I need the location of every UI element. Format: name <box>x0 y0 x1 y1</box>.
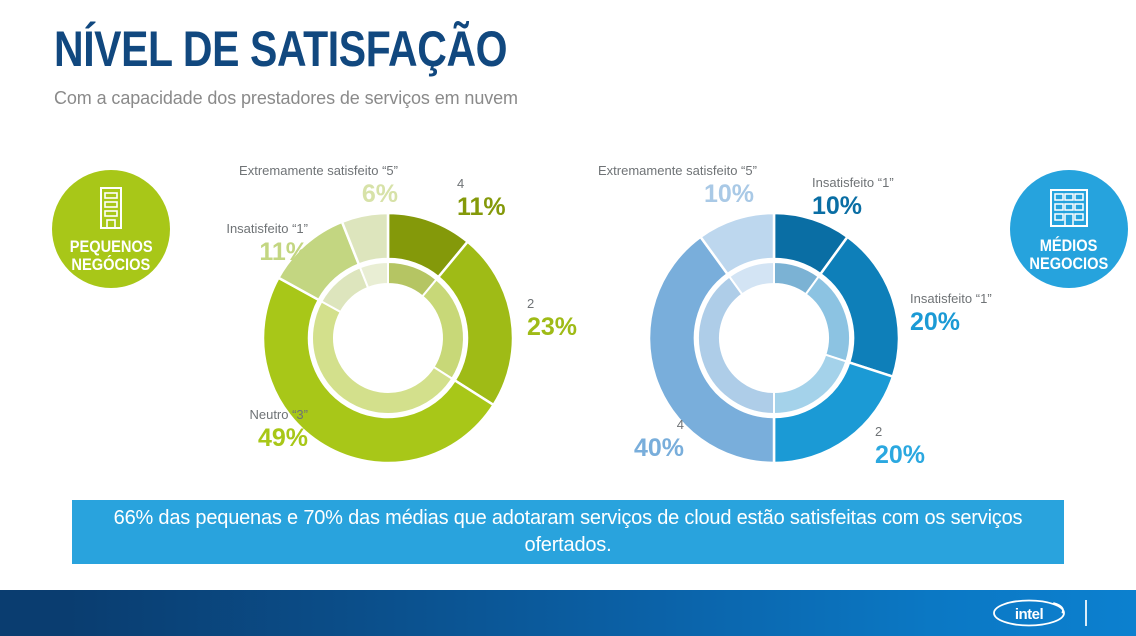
badge-medios-negocios: MÉDIOS NEGOCIOS <box>1010 170 1128 288</box>
callout-value: 49% <box>148 424 308 452</box>
callout-left-insatisfeito: Insatisfeito “1” 11% <box>118 222 308 266</box>
callout-left-extremamente-satisfeito: Extremamente satisfeito “5” 6% <box>198 164 398 208</box>
callout-value: 10% <box>598 180 754 208</box>
svg-text:intel: intel <box>1015 606 1044 623</box>
callout-left-neutro: Neutro “3” 49% <box>148 408 308 452</box>
page-subtitle: Com a capacidade dos prestadores de serv… <box>54 88 607 109</box>
callout-right-4: 4 40% <box>570 418 684 462</box>
medium-building-icon <box>1047 186 1091 235</box>
footer-divider <box>1085 600 1087 626</box>
summary-banner: 66% das pequenas e 70% das médias que ad… <box>72 500 1064 564</box>
callout-right-2: 2 20% <box>875 425 925 469</box>
callout-label: Extremamente satisfeito “5” <box>198 164 398 179</box>
callout-label: Insatisfeito “1” <box>812 176 894 191</box>
callout-right-insatisfeito-20: Insatisfeito “1” 20% <box>910 292 992 336</box>
page-title: NÍVEL DE SATISFAÇÃO <box>54 24 507 74</box>
footer-bar: intel <box>0 590 1136 636</box>
callout-label: Neutro “3” <box>148 408 308 423</box>
callout-label: 2 <box>875 425 925 440</box>
callout-value: 23% <box>527 313 577 341</box>
badge-right-line1: MÉDIOS <box>1040 237 1098 254</box>
callout-left-2: 2 23% <box>527 297 577 341</box>
callout-value: 11% <box>457 193 506 221</box>
callout-label: Insatisfeito “1” <box>910 292 992 307</box>
callout-value: 20% <box>875 441 925 469</box>
callout-right-extremamente-satisfeito: Extremamente satisfeito “5” 10% <box>598 164 754 208</box>
page-header: NÍVEL DE SATISFAÇÃO Com a capacidade dos… <box>54 24 607 109</box>
callout-value: 20% <box>910 308 992 336</box>
callout-left-4: 4 11% <box>457 177 506 221</box>
callout-value: 40% <box>570 434 684 462</box>
callout-value: 11% <box>118 238 308 266</box>
callout-value: 10% <box>812 192 894 220</box>
callout-right-insatisfeito-10: Insatisfeito “1” 10% <box>812 176 894 220</box>
summary-banner-text: 66% das pequenas e 70% das médias que ad… <box>88 505 1048 559</box>
callout-label: 4 <box>457 177 506 192</box>
callout-label: 4 <box>570 418 684 433</box>
donut-chart-medios-negocios <box>648 212 900 469</box>
badge-right-line2: NEGOCIOS <box>1030 255 1109 272</box>
callout-label: Extremamente satisfeito “5” <box>598 164 754 179</box>
callout-label: Insatisfeito “1” <box>118 222 308 237</box>
callout-label: 2 <box>527 297 577 312</box>
callout-value: 6% <box>198 180 398 208</box>
intel-logo-icon: intel <box>992 599 1066 632</box>
